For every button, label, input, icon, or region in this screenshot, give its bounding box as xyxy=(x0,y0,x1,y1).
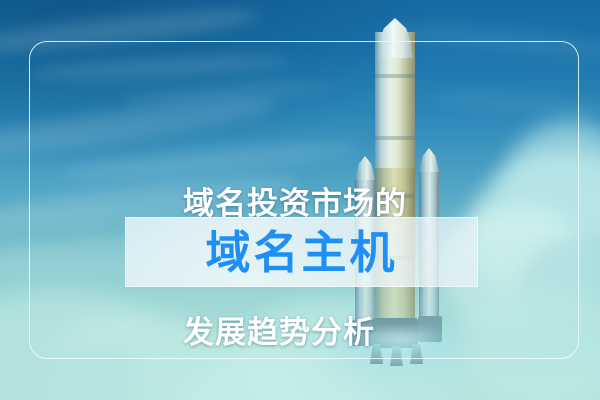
poster-canvas: 域名投资市场的 发展趋势分析 域名主机 xyxy=(0,0,600,400)
brand-banner: 域名主机 xyxy=(125,217,478,287)
brand-banner-label: 域名主机 xyxy=(205,230,397,275)
rocket-band xyxy=(375,74,415,78)
rocket-nose-cone xyxy=(375,18,415,58)
headline-line-2: 发展趋势分析 xyxy=(183,311,503,354)
